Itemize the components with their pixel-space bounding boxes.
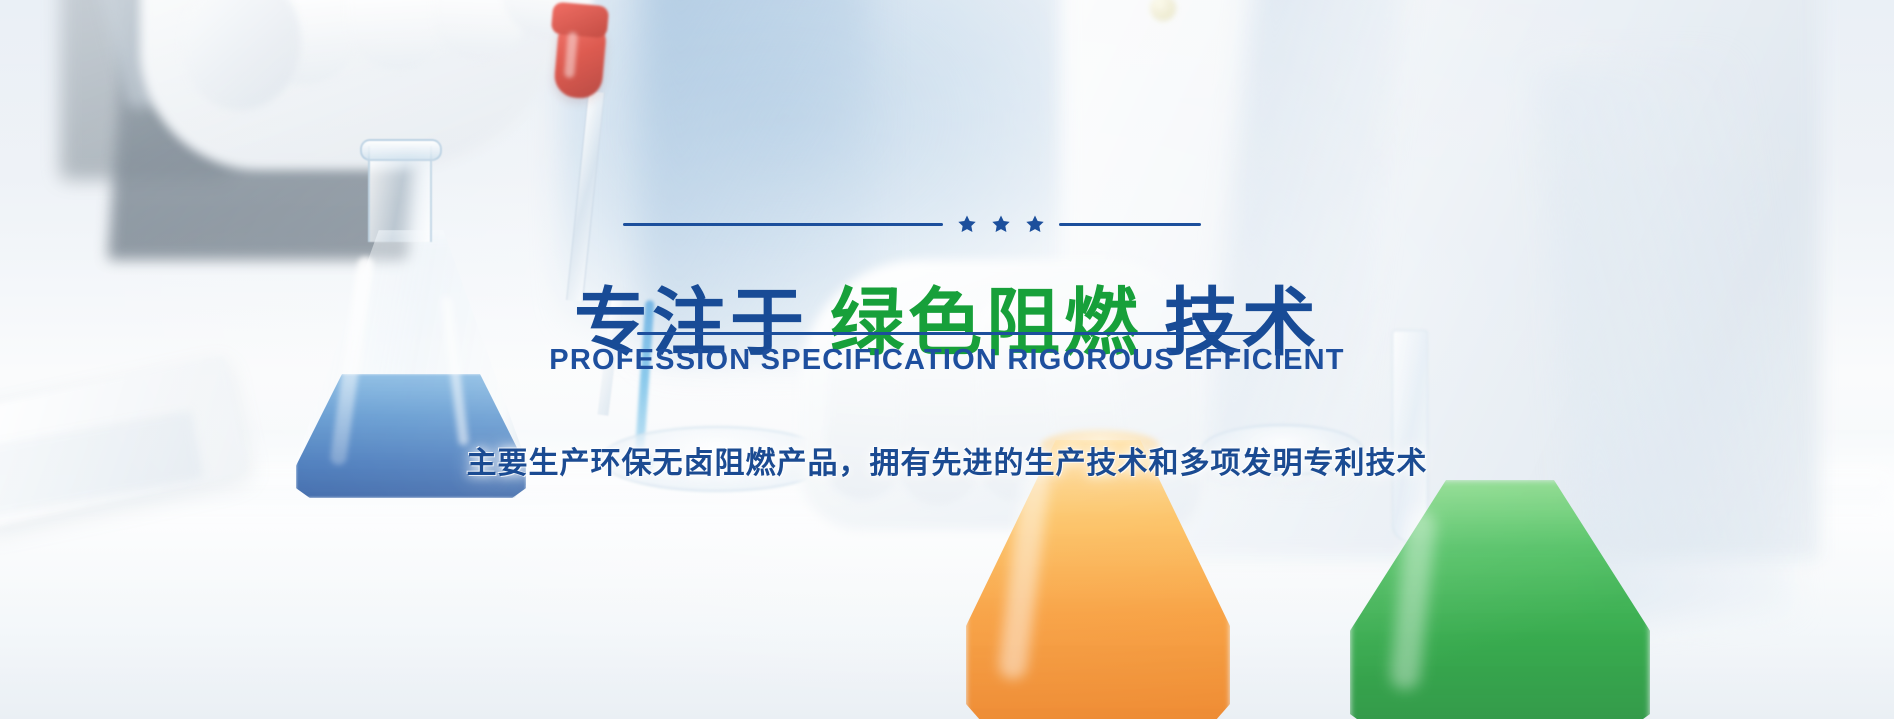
petri-dish <box>1200 424 1364 476</box>
erlenmeyer-flask <box>300 146 550 506</box>
pipette-bulb-top <box>551 2 610 39</box>
hero-banner: 专注于绿色阻燃技术 PROFESSION SPECIFICATION RIGOR… <box>0 0 1894 719</box>
glove-finger <box>898 291 982 506</box>
flask-lip <box>360 139 442 161</box>
banner-background-image <box>0 0 1894 719</box>
petri-dish <box>600 426 834 492</box>
